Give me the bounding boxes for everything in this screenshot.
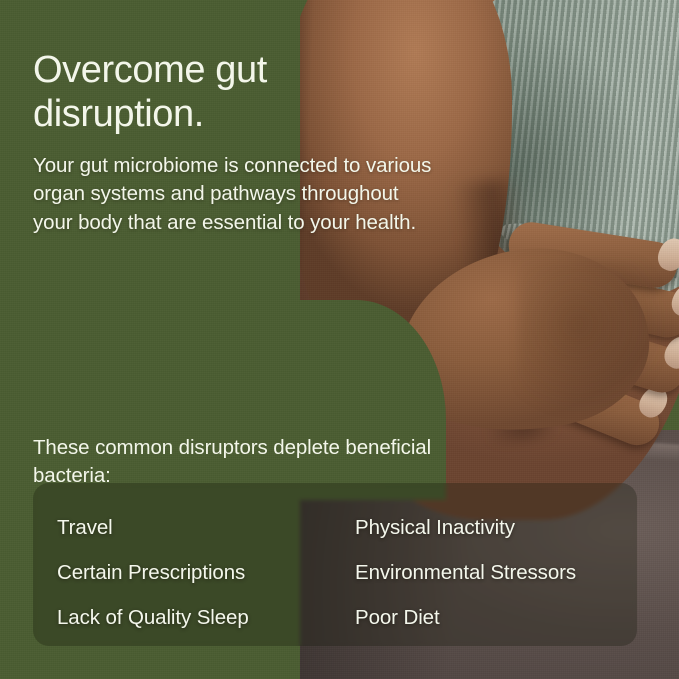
page-title: Overcome gut disruption. [33, 49, 363, 136]
disruptors-grid: Travel Physical Inactivity Certain Presc… [57, 505, 623, 632]
disruptors-panel: Travel Physical Inactivity Certain Presc… [33, 483, 637, 646]
list-item: Poor Diet [355, 606, 623, 630]
knuckle-shading [518, 260, 668, 420]
list-item: Travel [57, 516, 355, 540]
gut-health-ad-card: Overcome gut disruption. Your gut microb… [0, 0, 679, 679]
list-item: Certain Prescriptions [57, 561, 355, 585]
list-item: Lack of Quality Sleep [57, 606, 355, 630]
list-item: Environmental Stressors [355, 561, 623, 585]
list-item: Physical Inactivity [355, 516, 623, 540]
intro-paragraph: Your gut microbiome is connected to vari… [33, 152, 433, 238]
